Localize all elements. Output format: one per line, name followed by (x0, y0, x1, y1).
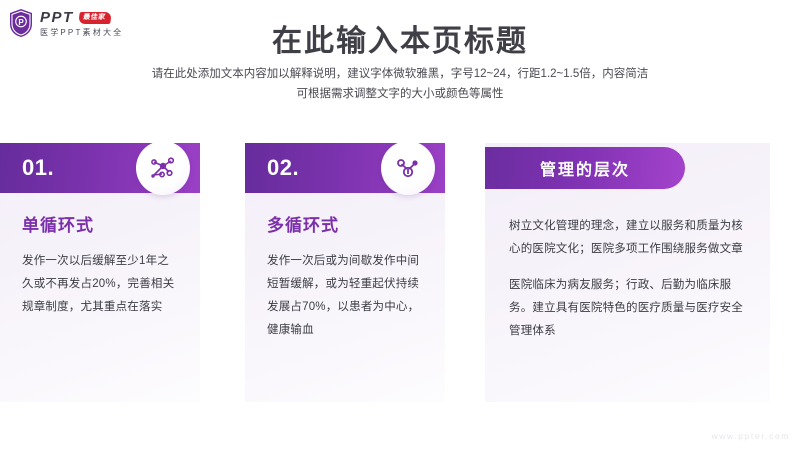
card-2-paragraph: 发作一次后或为间歇发作中间短暂缓解，或为轻重起伏持续发展占70%，以患者为中心，… (267, 250, 425, 342)
card-2-title: 多循环式 (267, 211, 425, 236)
card-1-header: 01. (0, 143, 200, 193)
card-1-body: 单循环式 发作一次以后缓解至少1年之久或不再发占20%，完善相关规章制度，尤其重… (0, 193, 200, 319)
card-3-paragraph-2: 医院临床为病友服务；行政、后勤为临床服务。建立具有医院特色的医疗质量与医疗安全管… (509, 274, 748, 343)
card-2-body: 多循环式 发作一次后或为间歇发作中间短暂缓解，或为轻重起伏持续发展占70%，以患… (245, 193, 445, 342)
card-3-pill-text: 管理的层次 (540, 156, 630, 180)
content-card-1[interactable]: 01. 单循环式 发作一次以后缓解至少1年之久或不再发占20%，完善相 (0, 143, 200, 402)
watermark: www.ppter.com (712, 431, 790, 441)
card-3-header: 管理的层次 (485, 143, 770, 193)
page-title: 在此输入本页标题 (0, 16, 800, 60)
content-card-2[interactable]: 02. 多循环式 发作一次后或为间歇发作中间短暂缓解，或为轻重起伏持续发展占70… (245, 143, 445, 402)
card-3-body: 树立文化管理的理念，建立以服务和质量为核心的医院文化；医院多项工作围绕服务做文章… (485, 193, 770, 343)
card-1-number: 01. (22, 155, 54, 181)
card-1-paragraph: 发作一次以后缓解至少1年之久或不再发占20%，完善相关规章制度，尤其重点在落实 (22, 250, 180, 319)
card-2-number: 02. (267, 155, 299, 181)
node-connector-icon (381, 143, 435, 195)
subtitle-line-2: 可根据需求调整文字的大小或颜色等属性 (0, 84, 800, 104)
page-subtitle: 请在此处添加文本内容加以解释说明，建议字体微软雅黑，字号12~24，行距1.2~… (0, 64, 800, 104)
subtitle-line-1: 请在此处添加文本内容加以解释说明，建议字体微软雅黑，字号12~24，行距1.2~… (0, 64, 800, 84)
card-1-title: 单循环式 (22, 211, 180, 236)
network-nodes-icon (136, 143, 190, 195)
card-3-paragraph-1: 树立文化管理的理念，建立以服务和质量为核心的医院文化；医院多项工作围绕服务做文章 (509, 215, 748, 261)
card-3-pill-label: 管理的层次 (485, 147, 685, 189)
card-2-header: 02. (245, 143, 445, 193)
content-card-3[interactable]: 管理的层次 树立文化管理的理念，建立以服务和质量为核心的医院文化；医院多项工作围… (485, 143, 770, 402)
